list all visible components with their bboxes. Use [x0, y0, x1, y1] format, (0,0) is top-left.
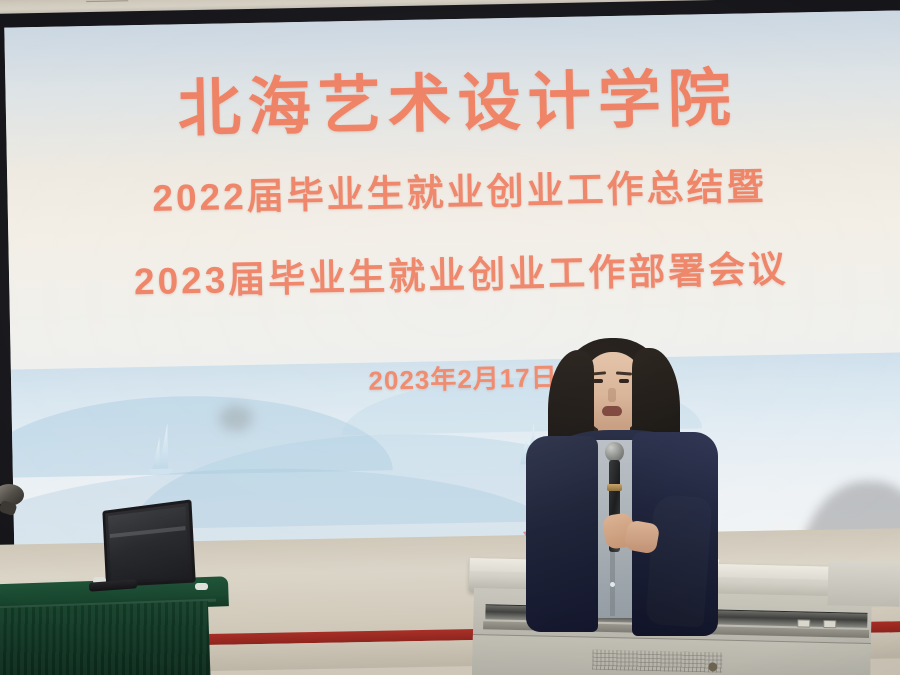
green-draped-table — [0, 585, 228, 675]
slide-text-block: 北海艺术设计学院 2022届毕业生就业创业工作总结暨 2023届毕业生就业创业工… — [4, 10, 900, 562]
presenter-arm-right — [646, 494, 713, 628]
presenter-eye-right — [619, 379, 629, 383]
presenter-hand-holding-paper — [624, 519, 661, 554]
podium-button-b[interactable] — [823, 620, 836, 628]
slide-title: 北海艺术设计学院 — [177, 66, 738, 143]
podium-side-panel — [828, 561, 900, 606]
podium-button-a[interactable] — [797, 619, 810, 627]
projection-screen-frame: 北海艺术设计学院 2022届毕业生就业创业工作总结暨 2023届毕业生就业创业工… — [0, 0, 900, 579]
presenter-mouth — [602, 406, 622, 416]
laptop-lid — [102, 499, 195, 587]
microphone-capsule-icon — [605, 442, 624, 462]
laptop-screen — [108, 506, 189, 581]
projection-screen-surface: 北海艺术设计学院 2022届毕业生就业创业工作总结暨 2023届毕业生就业创业工… — [4, 10, 900, 562]
microphone-left — [0, 484, 28, 516]
laptop — [95, 505, 207, 597]
microphone-gold-ring — [607, 484, 622, 491]
housing-clip — [86, 0, 128, 2]
laptop-hinge-right — [195, 583, 208, 590]
presenter-nose — [608, 388, 616, 402]
presenter-jacket-left — [526, 436, 598, 632]
presenter-shirt-button — [610, 582, 615, 587]
presenter — [500, 336, 720, 675]
laptop-base — [89, 579, 138, 591]
presenter-eye-left — [593, 379, 603, 383]
conference-photo: 北海艺术设计学院 2022届毕业生就业创业工作总结暨 2023届毕业生就业创业工… — [0, 0, 900, 675]
table-skirt — [0, 601, 211, 675]
slide-subtitle-line-1: 2022届毕业生就业创业工作总结暨 — [152, 167, 767, 219]
slide-subtitle-line-2: 2023届毕业生就业创业工作部署会议 — [134, 249, 789, 302]
